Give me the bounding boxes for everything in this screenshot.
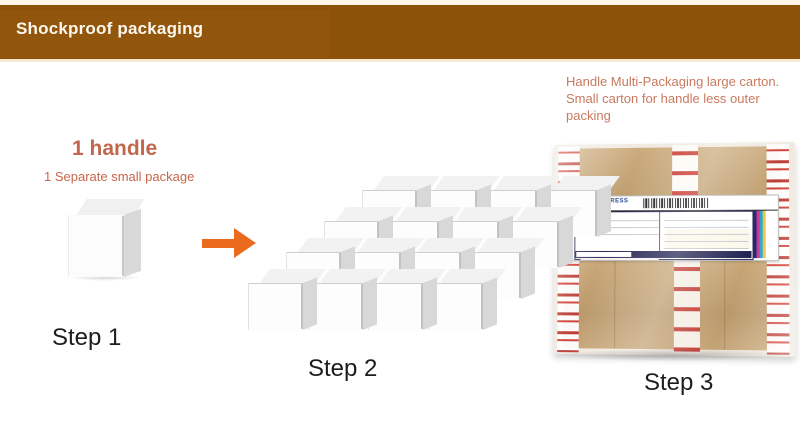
box-top-edge <box>362 190 417 191</box>
multi-packaging-note: Handle Multi-Packaging large carton. Sma… <box>566 73 794 124</box>
handle-count-title: 1 handle <box>72 137 157 161</box>
shockproof-packaging-infographic: Shockproof packaging 1 handle 1 Separate… <box>0 0 800 438</box>
page-title: Shockproof packaging <box>16 19 203 39</box>
waybill-rule <box>664 234 748 235</box>
box-side-face <box>124 209 141 277</box>
step2-box-grid <box>248 176 538 336</box>
waybill-cream-field-block <box>666 229 750 249</box>
safety-tape-top-center <box>672 145 698 199</box>
handle-count-subtitle: 1 Separate small package <box>44 169 194 184</box>
step1-single-carton-box <box>68 198 144 282</box>
box-side-face <box>559 215 573 268</box>
barcode-icon <box>643 198 709 208</box>
box-edge-crease <box>595 191 597 236</box>
step-1-label: Step 1 <box>52 324 121 352</box>
grid-carton-box <box>248 269 322 335</box>
carton-shrink-wrap: EXPRESS <box>553 142 795 357</box>
waybill-rule <box>664 220 748 221</box>
box-side-face <box>597 184 611 237</box>
box-edge-crease <box>557 222 559 267</box>
carton-seam-2 <box>724 261 725 350</box>
box-front-face <box>68 215 125 277</box>
box-edge-crease <box>421 284 423 329</box>
waybill-footer-white-field <box>576 252 631 257</box>
step-2-label: Step 2 <box>308 355 377 383</box>
box-edge-crease <box>301 284 303 329</box>
banner-bottom-edge-line <box>0 59 800 62</box>
arrow-shaft <box>202 239 238 248</box>
safety-tape-bottom-center <box>674 261 700 354</box>
box-top-edge <box>286 252 341 253</box>
box-side-face <box>483 277 497 330</box>
box-edge-crease <box>122 216 124 276</box>
box-front-face <box>248 283 303 330</box>
box-side-face <box>363 277 377 330</box>
box-top-edge <box>248 283 303 284</box>
box-side-face <box>303 277 317 330</box>
step-3-label: Step 3 <box>644 369 713 397</box>
waybill-rule <box>664 241 748 242</box>
box-edge-crease <box>519 253 521 298</box>
box-edge-crease <box>361 284 363 329</box>
waybill-footer-bar <box>574 251 751 258</box>
box-left-edge <box>248 283 249 330</box>
box-side-face <box>521 246 535 299</box>
waybill-color-stripes <box>753 211 775 258</box>
box-side-face <box>423 277 437 330</box>
carton-drop-shadow <box>562 349 784 361</box>
box-edge-crease <box>481 284 483 329</box>
waybill-rule <box>664 248 748 249</box>
waybill-rule <box>664 227 748 228</box>
box-top-edge <box>324 221 379 222</box>
